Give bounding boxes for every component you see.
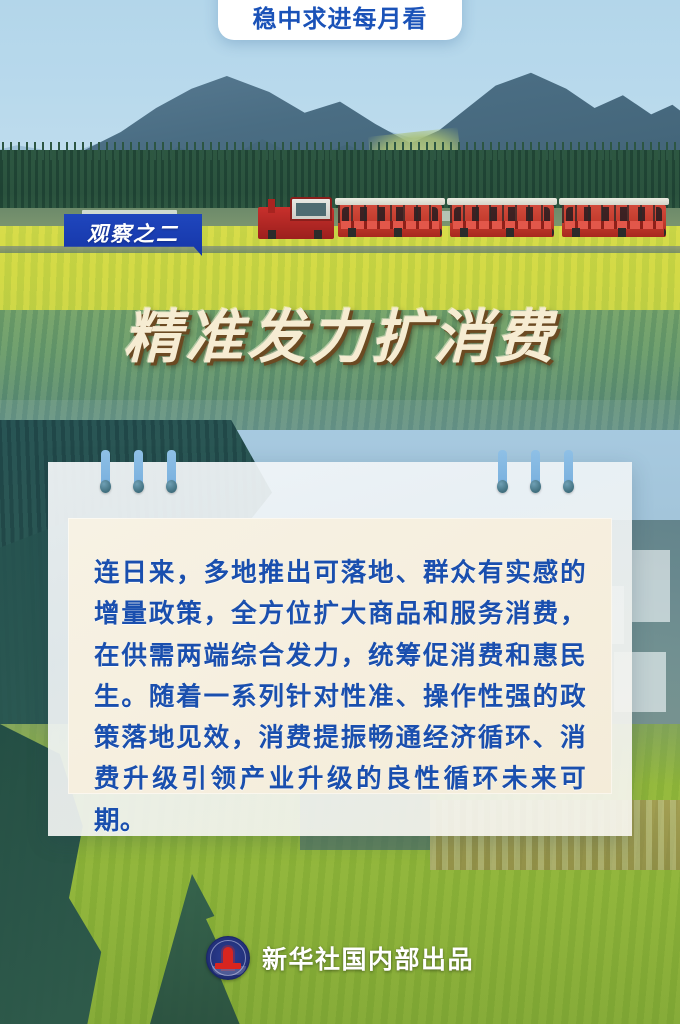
header-pill: 稳中求进每月看 bbox=[218, 0, 462, 40]
header-pill-label: 稳中求进每月看 bbox=[253, 0, 428, 34]
content-card-inner: 连日来，多地推出可落地、群众有实感的增量政策，全方位扩大商品和服务消费，在供需两… bbox=[68, 518, 612, 794]
pin-group bbox=[48, 462, 632, 518]
footer-credit: 新华社国内部出品 bbox=[262, 940, 474, 976]
pin-icon bbox=[497, 450, 508, 500]
article-body: 连日来，多地推出可落地、群众有实感的增量政策，全方位扩大商品和服务消费，在供需两… bbox=[94, 552, 586, 841]
train-window bbox=[296, 203, 326, 216]
poster: 稳中求进每月看 观察之二 精准发力扩消费 连日来，多地推出可落地、群众有实感的增… bbox=[0, 0, 680, 1024]
train-carriage bbox=[338, 205, 442, 237]
pin-icon bbox=[133, 450, 144, 500]
xinhua-logo-icon bbox=[206, 936, 250, 980]
tourist-train bbox=[258, 199, 678, 249]
series-banner-label: 观察之二 bbox=[87, 218, 179, 248]
train-carriage bbox=[562, 205, 666, 237]
content-card: 连日来，多地推出可落地、群众有实感的增量政策，全方位扩大商品和服务消费，在供需两… bbox=[48, 462, 632, 836]
page-title: 精准发力扩消费 bbox=[0, 290, 680, 374]
pin-icon bbox=[563, 450, 574, 500]
train-carriage bbox=[450, 205, 554, 237]
page-title-text: 精准发力扩消费 bbox=[123, 305, 557, 370]
pin-icon bbox=[100, 450, 111, 500]
pin-icon bbox=[530, 450, 541, 500]
footer: 新华社国内部出品 bbox=[0, 936, 680, 980]
pin-icon bbox=[166, 450, 177, 500]
